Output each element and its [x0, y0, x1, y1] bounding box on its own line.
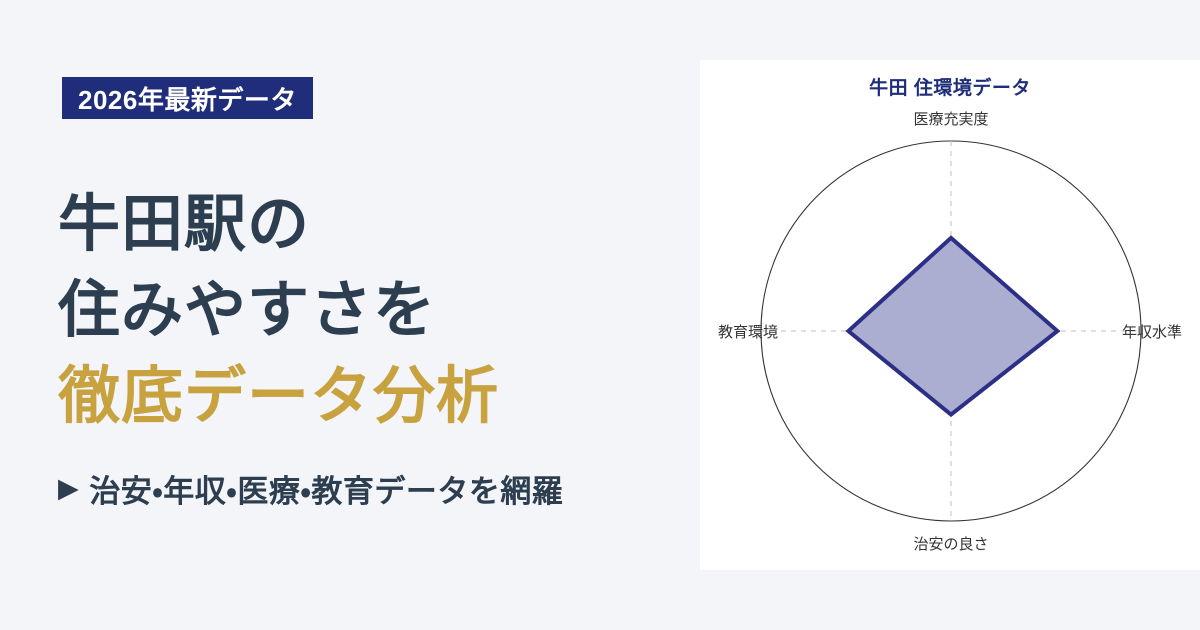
radar-label-right: 年収水準: [1122, 324, 1182, 341]
triangle-right-icon: ▶: [58, 475, 79, 502]
radar-chart-panel: 牛田 住環境データ 医療充実度 年収水準 治安の良さ 教育環境: [700, 60, 1200, 570]
radar-label-bottom: 治安の良さ: [913, 536, 988, 553]
radar-data-polygon: [848, 238, 1057, 415]
headline-line-2: 住みやすさを: [58, 268, 698, 354]
radar-label-top: 医療充実度: [913, 111, 988, 128]
page-title: 牛田駅の 住みやすさを 徹底データ分析: [58, 182, 698, 440]
headline-line-1: 牛田駅の: [58, 182, 698, 268]
headline-line-3: 徹底データ分析: [58, 354, 698, 440]
poster-canvas: 2026年最新データ 牛田駅の 住みやすさを 徹底データ分析 ▶ 治安・年収・医…: [0, 0, 1200, 630]
radar-label-left: 教育環境: [718, 324, 778, 341]
text-column: 2026年最新データ 牛田駅の 住みやすさを 徹底データ分析 ▶ 治安・年収・医…: [0, 0, 700, 630]
radar-chart: 医療充実度 年収水準 治安の良さ 教育環境: [700, 60, 1200, 570]
subtitle: ▶ 治安・年収・医療・教育データを網羅: [58, 466, 563, 511]
badge-label: 2026年最新データ: [78, 80, 297, 117]
status-badge: 2026年最新データ: [62, 77, 313, 119]
subtitle-text: 治安・年収・医療・教育データを網羅: [89, 466, 563, 511]
